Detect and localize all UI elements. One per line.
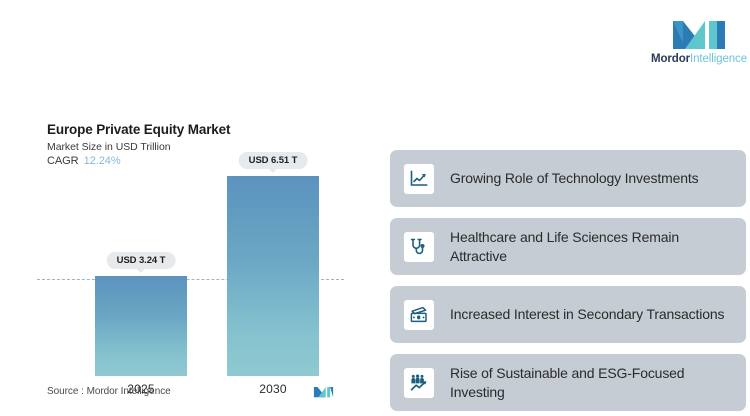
plot-area: USD 3.24 T USD 6.51 T — [33, 176, 348, 376]
mordor-m-logo-icon — [671, 13, 727, 51]
insight-card-secondary-transactions[interactable]: Increased Interest in Secondary Transact… — [390, 286, 746, 343]
line-chart-growth-icon — [404, 164, 434, 194]
source-row: Source : Mordor Intelligence — [47, 384, 334, 398]
banknotes-cash-icon — [404, 300, 434, 330]
bar-2030 — [227, 176, 319, 376]
insight-card-healthcare-life-sciences[interactable]: Healthcare and Life Sciences Remain Attr… — [390, 218, 746, 275]
people-growth-chart-icon — [404, 368, 434, 398]
cagr-value: 12.24% — [84, 155, 121, 167]
bar-value-label-2030: USD 6.51 T — [239, 152, 308, 169]
insight-card-label: Increased Interest in Secondary Transact… — [450, 305, 724, 324]
brand-wordmark: MordorIntelligence — [651, 54, 747, 66]
chart-title: Europe Private Equity Market — [47, 122, 334, 138]
brand-logo: MordorIntelligence — [653, 4, 745, 72]
source-text: Source : Mordor Intelligence — [47, 386, 171, 397]
mordor-m-mark-icon — [313, 384, 334, 398]
insight-card-esg-investing[interactable]: Rise of Sustainable and ESG-Focused Inve… — [390, 354, 746, 411]
chart-panel: Europe Private Equity Market Market Size… — [33, 110, 348, 406]
bar-group-2030: USD 6.51 T — [227, 176, 319, 376]
brand-name-light: Intelligence — [690, 53, 747, 65]
insight-card-label: Growing Role of Technology Investments — [450, 169, 699, 188]
insight-cards-list: Growing Role of Technology Investments H… — [390, 150, 746, 416]
brand-name-dark: Mordor — [651, 53, 690, 65]
infographic-page: MordorIntelligence Europe Private Equity… — [0, 0, 750, 416]
insight-card-label: Rise of Sustainable and ESG-Focused Inve… — [450, 364, 736, 402]
insight-card-technology-investments[interactable]: Growing Role of Technology Investments — [390, 150, 746, 207]
bar-2025 — [95, 276, 187, 376]
bar-value-label-2025: USD 3.24 T — [107, 252, 176, 269]
stethoscope-icon — [404, 232, 434, 262]
cagr-label: CAGR — [47, 155, 79, 167]
insight-card-label: Healthcare and Life Sciences Remain Attr… — [450, 228, 736, 266]
bar-group-2025: USD 3.24 T — [95, 176, 187, 376]
